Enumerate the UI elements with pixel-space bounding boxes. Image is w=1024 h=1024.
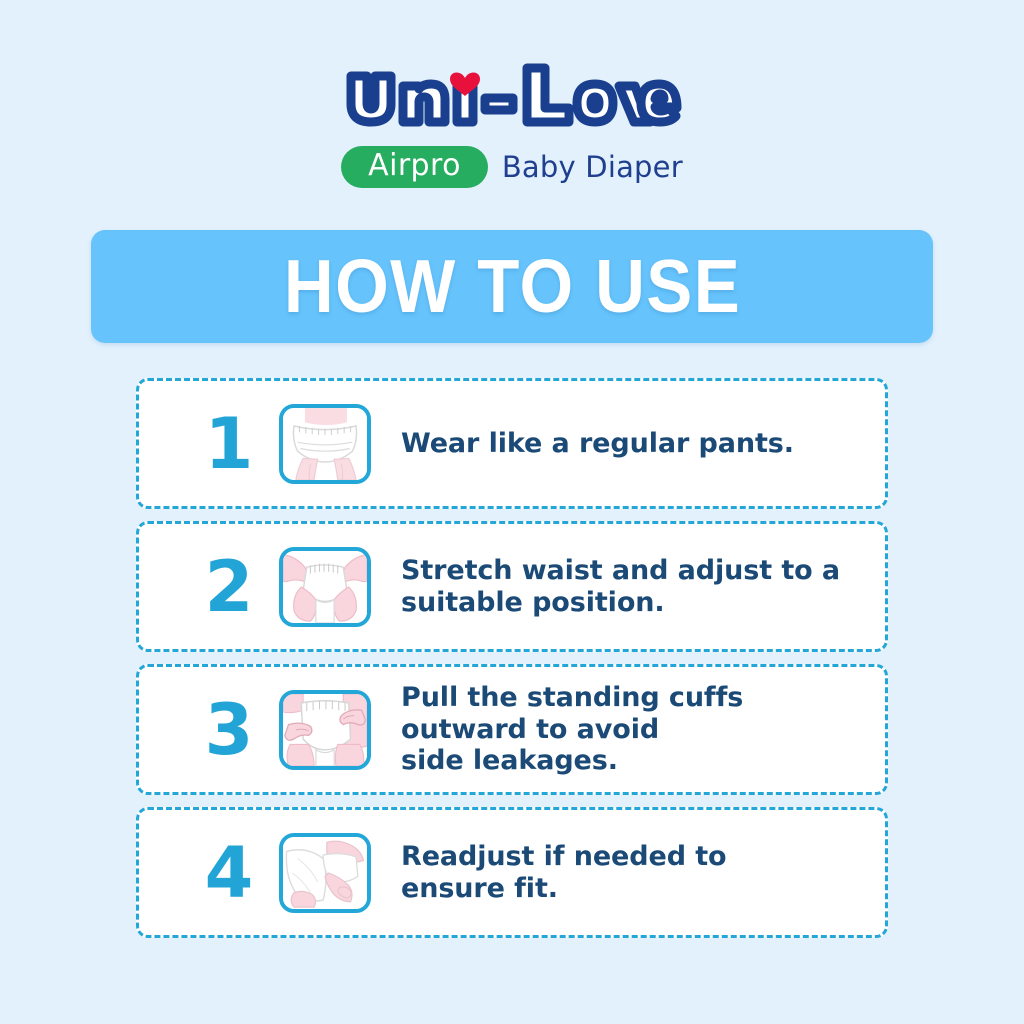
step-line: Pull the standing cuffs: [401, 682, 743, 714]
diaper-worn-illustration: [279, 404, 371, 484]
uni-love-logo: [337, 56, 687, 134]
how-to-use-banner: HOW TO USE: [91, 230, 933, 343]
step-line: ensure fit.: [401, 873, 726, 905]
step-description: Readjust if needed to ensure fit.: [401, 841, 726, 904]
step-number: 4: [195, 838, 263, 908]
airpro-badge: Airpro: [341, 146, 488, 188]
step-description: Pull the standing cuffs outward to avoid…: [401, 682, 743, 777]
stretch-waist-illustration: [279, 547, 371, 627]
step-card: 3: [136, 664, 888, 795]
step-line: Readjust if needed to: [401, 841, 726, 873]
step-card: 4: [136, 807, 888, 938]
step-line: Stretch waist and adjust to a: [401, 555, 840, 587]
step-description: Wear like a regular pants.: [401, 428, 794, 460]
standing-cuffs-illustration: [279, 690, 371, 770]
step-description: Stretch waist and adjust to a suitable p…: [401, 555, 840, 618]
banner-wrapper: HOW TO USE: [0, 230, 1024, 343]
step-number: 2: [195, 552, 263, 622]
readjust-fit-illustration: [279, 833, 371, 913]
step-card: 2: [136, 521, 888, 652]
uni-love-wordmark-icon: [337, 56, 687, 134]
step-number: 3: [195, 695, 263, 765]
brand-header: Airpro Baby Diaper: [0, 0, 1024, 188]
step-card: 1: [136, 378, 888, 509]
steps-list: 1: [0, 378, 1024, 938]
step-line: outward to avoid: [401, 714, 743, 746]
page-title: HOW TO USE: [283, 249, 740, 324]
step-line: suitable position.: [401, 587, 840, 619]
step-line: Wear like a regular pants.: [401, 428, 794, 460]
step-line: side leakages.: [401, 745, 743, 777]
product-type-label: Baby Diaper: [502, 150, 683, 184]
step-number: 1: [195, 409, 263, 479]
brand-subtitle-row: Airpro Baby Diaper: [341, 146, 683, 188]
